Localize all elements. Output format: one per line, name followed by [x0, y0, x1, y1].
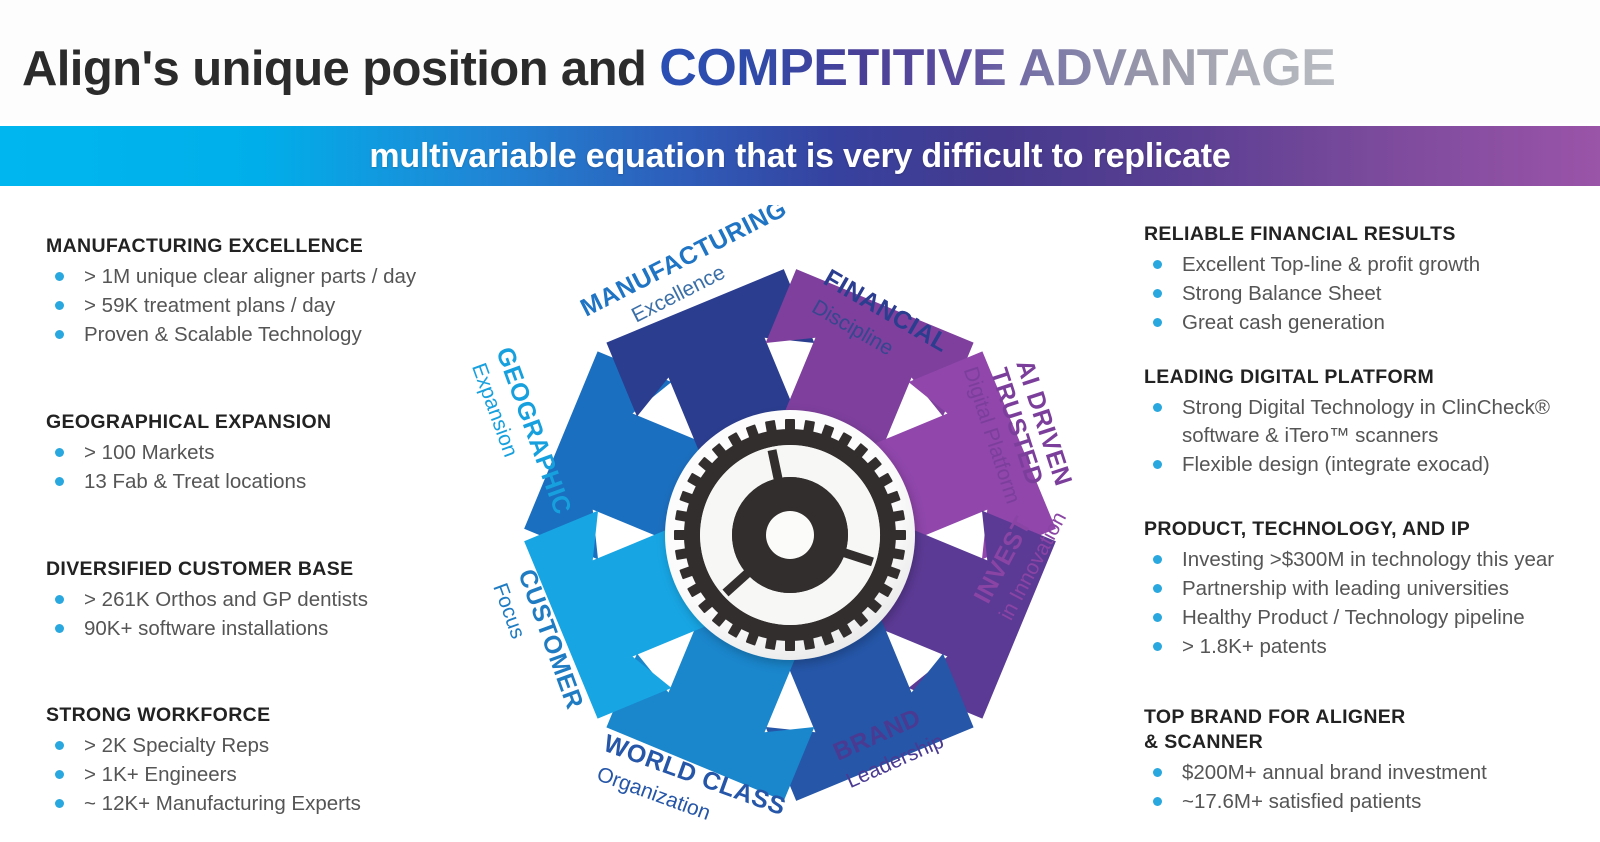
list-item: > 261K Orthos and GP dentists: [46, 586, 516, 614]
block-title: GEOGRAPHICAL EXPANSION: [46, 410, 516, 435]
page-title-plain: Align's unique position and: [22, 42, 659, 96]
list-item: Excellent Top-line & profit growth: [1144, 251, 1600, 279]
bullet-list: Excellent Top-line & profit growth Stron…: [1144, 251, 1600, 337]
bullet-list: $200M+ annual brand investment ~17.6M+ s…: [1144, 759, 1600, 816]
list-item: ~ 12K+ Manufacturing Experts: [46, 790, 516, 818]
block-title: STRONG WORKFORCE: [46, 703, 516, 728]
list-item: Healthy Product / Technology pipeline: [1144, 604, 1600, 632]
gear-icon: [665, 410, 915, 660]
list-item: 13 Fab & Treat locations: [46, 468, 516, 496]
block-reliable-financial-results: RELIABLE FINANCIAL RESULTS Excellent Top…: [1144, 222, 1600, 338]
bullet-list: > 2K Specialty Reps > 1K+ Engineers ~ 12…: [46, 732, 516, 818]
list-item: Great cash generation: [1144, 309, 1600, 337]
list-item: Investing >$300M in technology this year: [1144, 546, 1600, 574]
list-item: > 1K+ Engineers: [46, 761, 516, 789]
block-manufacturing-excellence: MANUFACTURING EXCELLENCE > 1M unique cle…: [46, 234, 516, 350]
page-header: Align's unique position and COMPETITIVE …: [0, 0, 1600, 123]
list-item: > 1.8K+ patents: [1144, 633, 1600, 661]
list-item: > 100 Markets: [46, 439, 516, 467]
block-leading-digital-platform: LEADING DIGITAL PLATFORM Strong Digital …: [1144, 365, 1600, 480]
block-diversified-customer-base: DIVERSIFIED CUSTOMER BASE > 261K Orthos …: [46, 557, 516, 644]
list-item: $200M+ annual brand investment: [1144, 759, 1600, 787]
list-item: Strong Digital Technology in ClinCheck® …: [1144, 394, 1600, 450]
bullet-list: Investing >$300M in technology this year…: [1144, 546, 1600, 661]
list-item: 90K+ software installations: [46, 615, 516, 643]
bullet-list: > 1M unique clear aligner parts / day > …: [46, 263, 516, 349]
block-title: DIVERSIFIED CUSTOMER BASE: [46, 557, 516, 582]
list-item: ~17.6M+ satisfied patients: [1144, 788, 1600, 816]
block-title: TOP BRAND FOR ALIGNER & SCANNER: [1144, 705, 1600, 755]
block-product-technology-ip: PRODUCT, TECHNOLOGY, AND IP Investing >$…: [1144, 517, 1600, 662]
block-title: PRODUCT, TECHNOLOGY, AND IP: [1144, 517, 1600, 542]
bullet-list: Strong Digital Technology in ClinCheck® …: [1144, 394, 1600, 479]
list-item: Flexible design (integrate exocad): [1144, 451, 1600, 479]
list-item: Partnership with leading universities: [1144, 575, 1600, 603]
block-title: MANUFACTURING EXCELLENCE: [46, 234, 516, 259]
list-item: Strong Balance Sheet: [1144, 280, 1600, 308]
block-title: RELIABLE FINANCIAL RESULTS: [1144, 222, 1600, 247]
block-geographical-expansion: GEOGRAPHICAL EXPANSION > 100 Markets 13 …: [46, 410, 516, 497]
bullet-list: > 100 Markets 13 Fab & Treat locations: [46, 439, 516, 496]
block-title: LEADING DIGITAL PLATFORM: [1144, 365, 1600, 390]
subtitle-banner: multivariable equation that is very diff…: [0, 126, 1600, 186]
competitive-advantage-wheel: MANUFACTURING Excellence FINANCIAL Disci…: [460, 205, 1120, 842]
list-item: Proven & Scalable Technology: [46, 321, 516, 349]
subtitle-banner-text: multivariable equation that is very diff…: [369, 137, 1230, 176]
page-title: Align's unique position and COMPETITIVE …: [22, 42, 1335, 94]
block-top-brand-aligner-scanner: TOP BRAND FOR ALIGNER & SCANNER $200M+ a…: [1144, 705, 1600, 817]
list-item: > 1M unique clear aligner parts / day: [46, 263, 516, 291]
list-item: > 2K Specialty Reps: [46, 732, 516, 760]
page-title-emphasis: COMPETITIVE ADVANTAGE: [659, 39, 1335, 97]
bullet-list: > 261K Orthos and GP dentists 90K+ softw…: [46, 586, 516, 643]
block-strong-workforce: STRONG WORKFORCE > 2K Specialty Reps > 1…: [46, 703, 516, 819]
list-item: > 59K treatment plans / day: [46, 292, 516, 320]
